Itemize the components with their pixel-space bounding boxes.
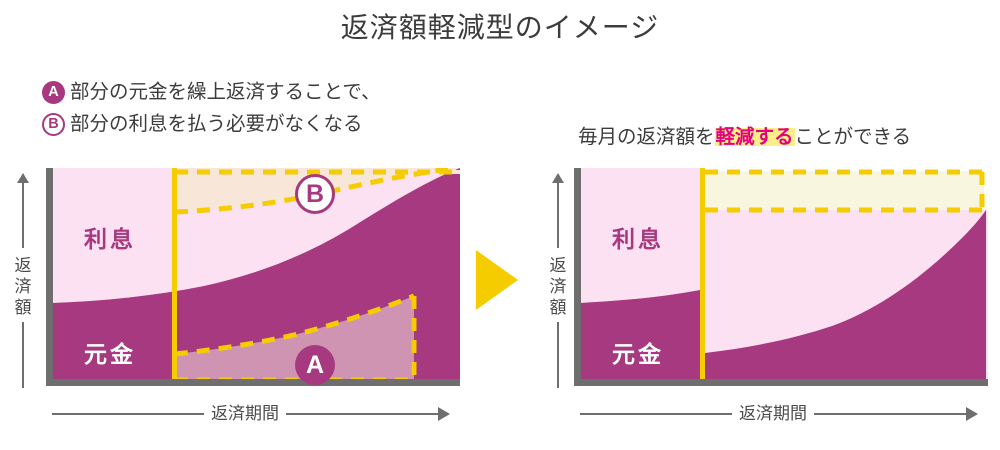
page-title: 返済額軽減型のイメージ <box>0 6 1000 46</box>
flow-arrow-icon <box>476 250 518 310</box>
x-axis-bar-right <box>574 379 988 386</box>
x-axis-label-right: 返済期間 <box>732 403 814 425</box>
y-axis-char-3: 額 <box>10 297 36 318</box>
caption-right-highlight: 軽減する <box>715 126 795 148</box>
caption-left: A 部分の元金を繰上返済することで、 B 部分の利息を払う必要がなくなる <box>42 78 472 139</box>
prepayment-line-left <box>172 168 177 386</box>
y-axis-label-right: 返 済 額 <box>545 255 571 318</box>
y-axis-label-left: 返 済 額 <box>10 255 36 318</box>
y-axis-bar-right <box>574 168 581 386</box>
chart-before-prepayment <box>44 168 460 394</box>
marker-b-circle: B <box>295 174 335 214</box>
y-axis-arrow-right <box>557 182 559 248</box>
x-axis-arrow-left <box>438 407 450 421</box>
y-axis-char-1-right: 返 <box>545 255 571 276</box>
x-axis-arrow-right <box>966 407 978 421</box>
caption-right: 毎月の返済額を軽減することができる <box>578 120 998 149</box>
region-reduced-fill <box>705 171 984 210</box>
y-axis-char-3-right: 額 <box>545 297 571 318</box>
region-reduced-group <box>705 171 984 210</box>
diagram-root: 返済額軽減型のイメージ A 部分の元金を繰上返済することで、 B 部分の利息を払… <box>0 0 1000 450</box>
caption-left-line-2: B 部分の利息を払う必要がなくなる <box>42 110 472 139</box>
prepayment-line-right <box>700 168 705 386</box>
badge-b-icon: B <box>42 113 65 136</box>
chart-after-svg <box>572 168 988 394</box>
caption-left-line-1: A 部分の元金を繰上返済することで、 <box>42 78 472 107</box>
x-axis-right: 返済期間 <box>580 403 980 425</box>
y-axis-arrow-left <box>22 182 24 248</box>
badge-a-icon: A <box>42 81 65 104</box>
chart-before-svg <box>44 168 460 394</box>
y-axis-bar-left <box>46 168 53 386</box>
caption-right-before: 毎月の返済額を <box>578 126 715 148</box>
y-axis-char-2: 済 <box>10 276 36 297</box>
y-axis-char-1: 返 <box>10 255 36 276</box>
x-axis-bar-left <box>46 379 460 386</box>
x-axis-left: 返済期間 <box>52 403 452 425</box>
y-axis-char-2-right: 済 <box>545 276 571 297</box>
chart-after-prepayment <box>572 168 988 394</box>
marker-a-circle: A <box>295 345 335 385</box>
caption-left-text-1: 部分の元金を繰上返済することで、 <box>70 78 381 107</box>
y-axis-line-left <box>22 322 24 388</box>
caption-left-text-2: 部分の利息を払う必要がなくなる <box>70 110 363 139</box>
x-axis-label-left: 返済期間 <box>204 403 286 425</box>
caption-right-after: ことができる <box>795 126 912 148</box>
y-axis-line-right <box>557 322 559 388</box>
